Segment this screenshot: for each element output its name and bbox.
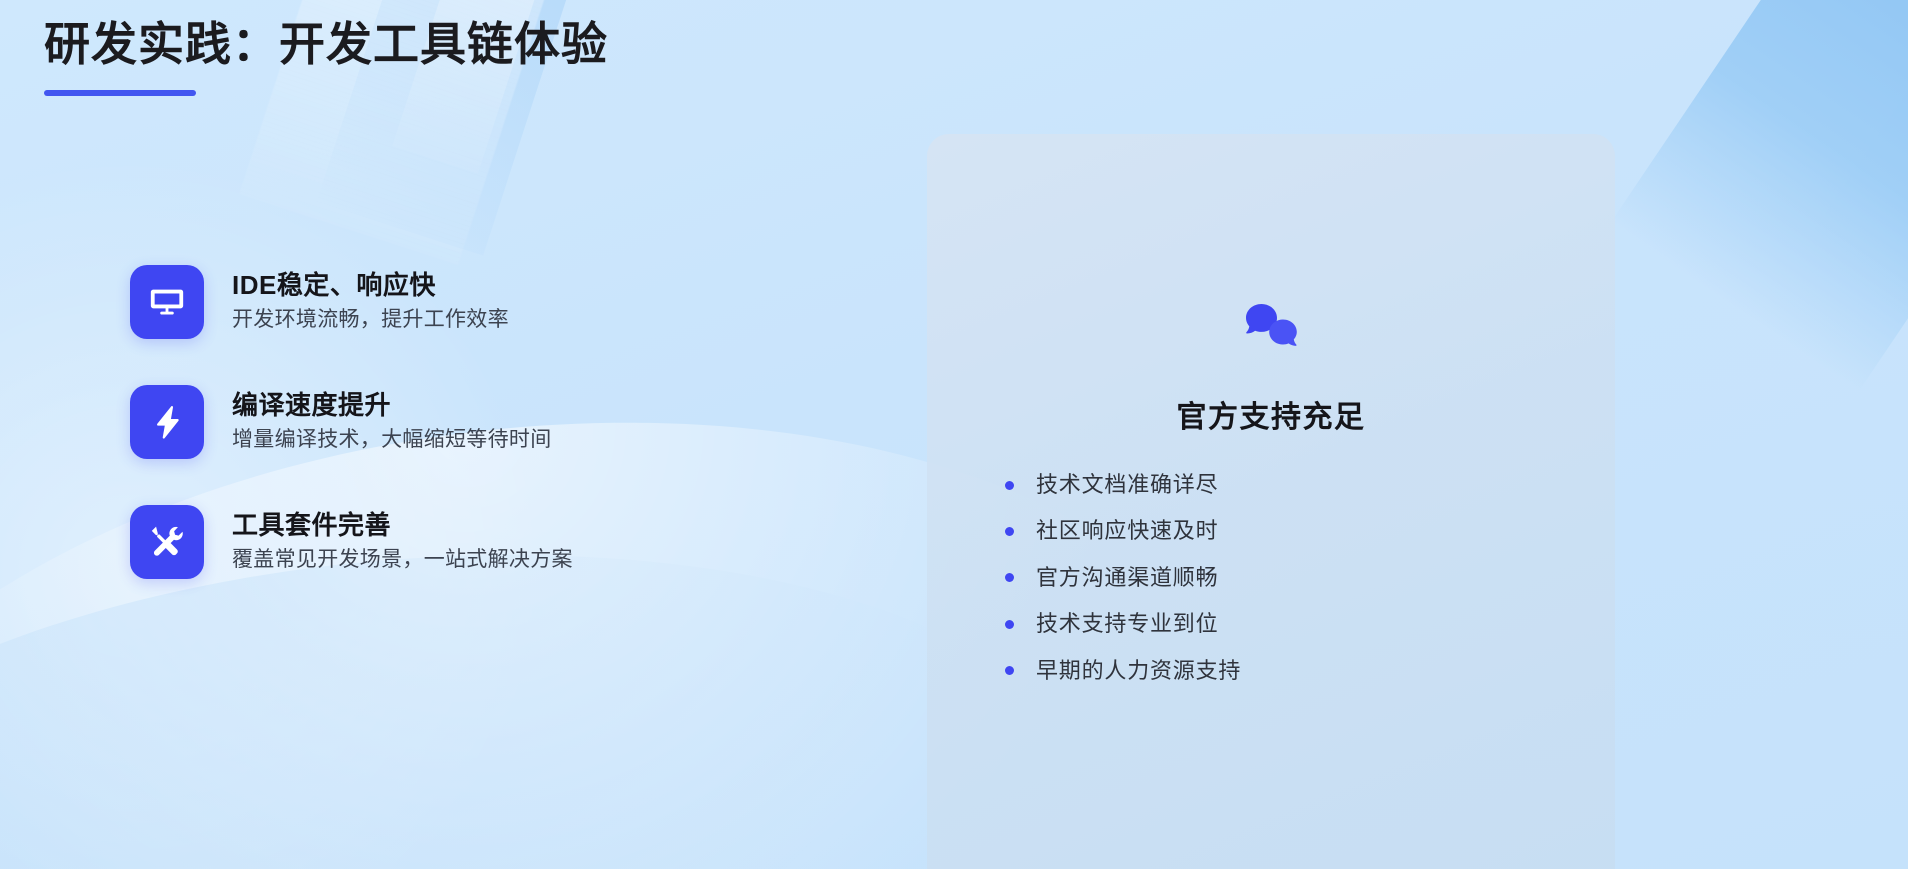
feature-item-toolkit[interactable]: 工具套件完善 覆盖常见开发场景，一站式解决方案 [130,505,573,579]
bullet-label: 技术支持专业到位 [1036,611,1218,637]
support-bullet-list: 技术文档准确详尽 社区响应快速及时 官方沟通渠道顺畅 技术支持专业到位 早期的人… [1005,472,1241,684]
feature-text: 工具套件完善 覆盖常见开发场景，一站式解决方案 [232,510,573,573]
bullet-dot-icon [1005,573,1014,582]
support-card-content: 官方支持充足 技术文档准确详尽 社区响应快速及时 官方沟通渠道顺畅 技术支持专业… [927,134,1615,869]
tools-icon [130,505,204,579]
bullet-label: 早期的人力资源支持 [1036,658,1241,684]
bullet-dot-icon [1005,666,1014,675]
monitor-icon [130,265,204,339]
support-card: 官方支持充足 技术文档准确详尽 社区响应快速及时 官方沟通渠道顺畅 技术支持专业… [927,134,1615,869]
feature-title: 编译速度提升 [232,390,552,421]
feature-item-compile-speed[interactable]: 编译速度提升 增量编译技术，大幅缩短等待时间 [130,385,573,459]
list-item: 技术文档准确详尽 [1005,472,1241,498]
bullet-dot-icon [1005,620,1014,629]
decor-corner-band-blue [1610,0,1908,391]
bullet-dot-icon [1005,527,1014,536]
slide-root: 研发实践：开发工具链体验 IDE稳定、响应快 开发环境流畅，提升工作效率 [0,0,1908,869]
title-underline-accent [44,90,196,96]
support-card-heading: 官方支持充足 [1177,392,1366,436]
list-item: 早期的人力资源支持 [1005,658,1241,684]
feature-list: IDE稳定、响应快 开发环境流畅，提升工作效率 编译速度提升 增量编译技术，大幅… [130,265,573,579]
feature-title: 工具套件完善 [232,510,573,541]
feature-item-ide[interactable]: IDE稳定、响应快 开发环境流畅，提升工作效率 [130,265,573,339]
feature-description: 覆盖常见开发场景，一站式解决方案 [232,547,573,573]
list-item: 技术支持专业到位 [1005,611,1241,637]
feature-description: 增量编译技术，大幅缩短等待时间 [232,427,552,453]
bullet-label: 社区响应快速及时 [1036,518,1218,544]
list-item: 官方沟通渠道顺畅 [1005,565,1241,591]
list-item: 社区响应快速及时 [1005,518,1241,544]
bullet-label: 技术文档准确详尽 [1036,472,1218,498]
feature-title: IDE稳定、响应快 [232,270,509,301]
feature-description: 开发环境流畅，提升工作效率 [232,307,509,333]
page-title: 研发实践：开发工具链体验 [44,16,608,74]
chat-bubbles-icon [1239,302,1303,358]
title-block: 研发实践：开发工具链体验 [44,16,608,96]
bullet-label: 官方沟通渠道顺畅 [1036,565,1218,591]
bullet-dot-icon [1005,481,1014,490]
lightning-bolt-icon [130,385,204,459]
decor-corner-band-light [1809,0,1908,333]
feature-text: IDE稳定、响应快 开发环境流畅，提升工作效率 [232,270,509,333]
feature-text: 编译速度提升 增量编译技术，大幅缩短等待时间 [232,390,552,453]
